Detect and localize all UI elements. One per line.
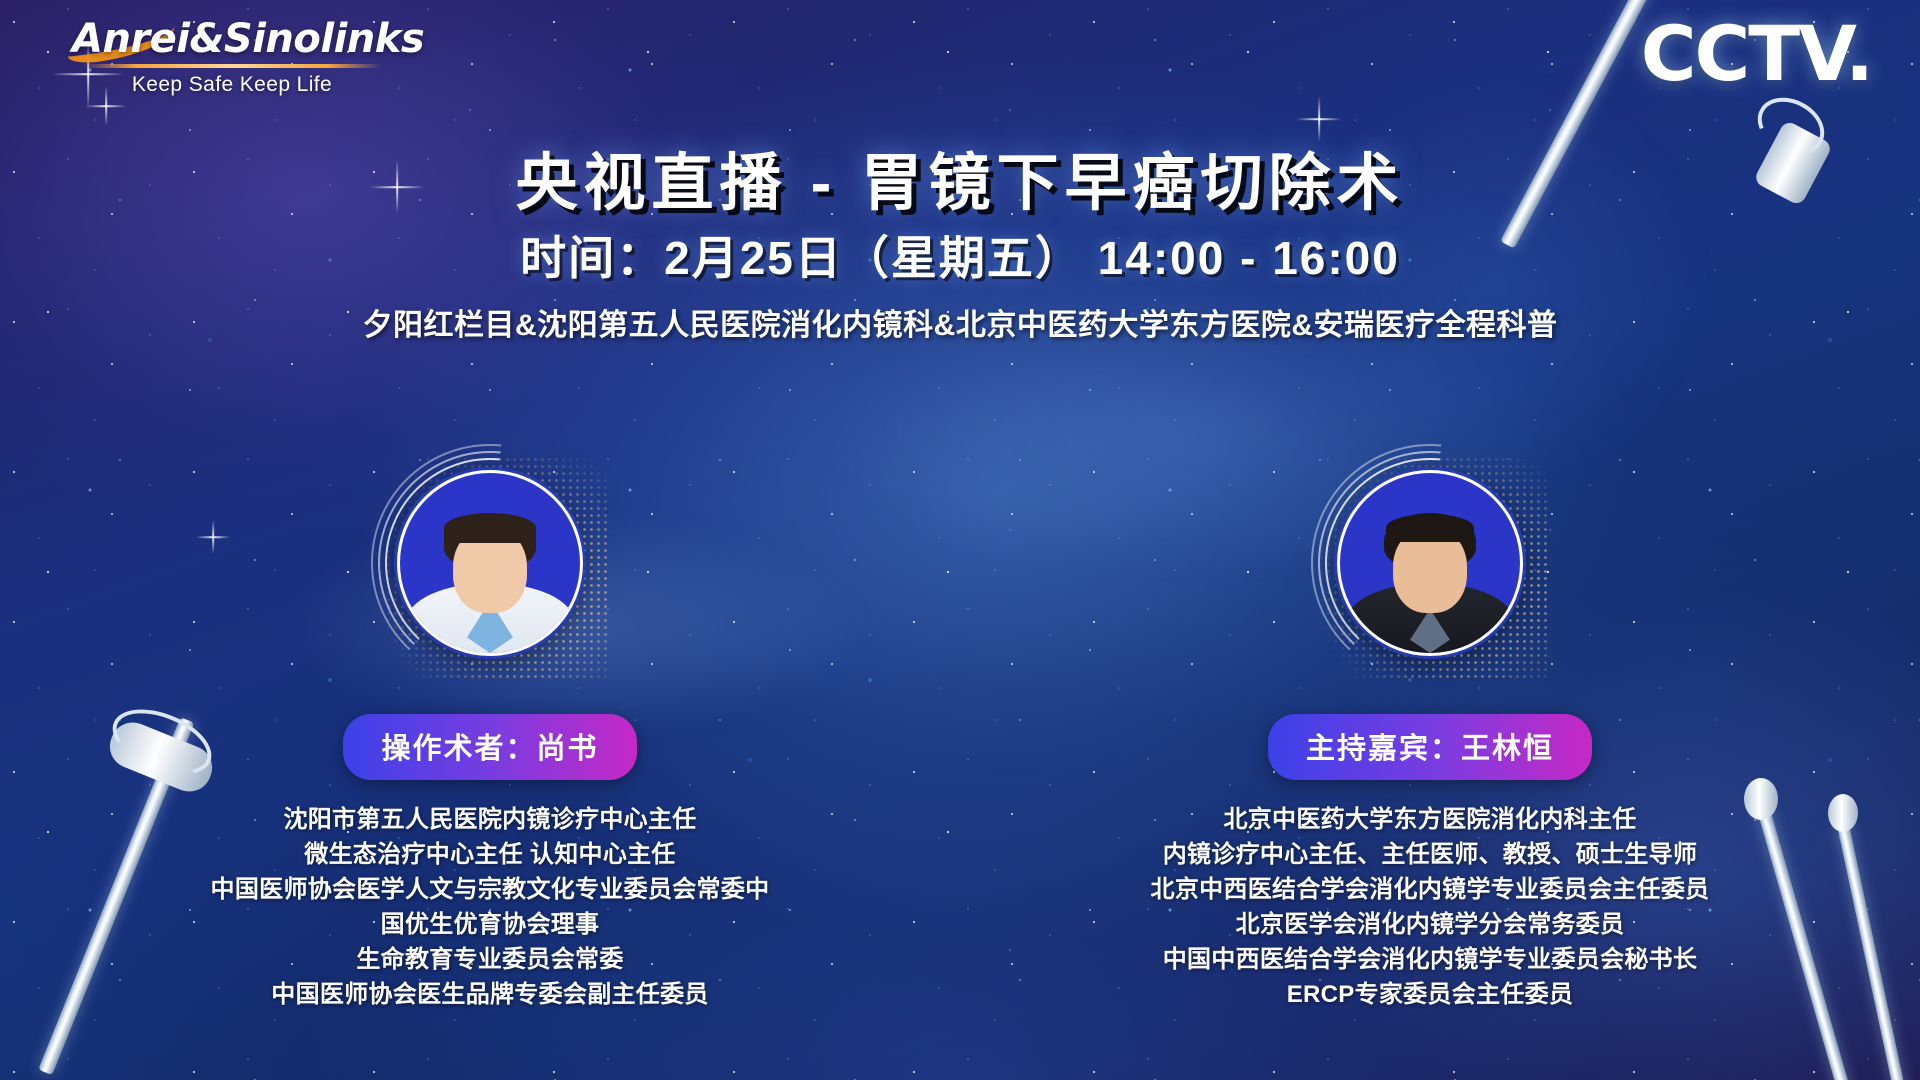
brand-divider bbox=[82, 64, 382, 68]
credential-item: 国优生优育协会理事 bbox=[110, 907, 870, 942]
avatar-image-host bbox=[1337, 470, 1523, 656]
credential-item: 微生态治疗中心主任 认知中心主任 bbox=[110, 837, 870, 872]
speaker-card-operator: 操作术者：尚书 沈阳市第五人民医院内镜诊疗中心主任 微生态治疗中心主任 认知中心… bbox=[110, 470, 870, 1012]
cctv-logo: CCTV. bbox=[1641, 16, 1872, 92]
credential-item: 沈阳市第五人民医院内镜诊疗中心主任 bbox=[110, 802, 870, 837]
credential-item: 北京中西医结合学会消化内镜学专业委员会主任委员 bbox=[1050, 872, 1810, 907]
avatar-hair-front bbox=[444, 513, 536, 543]
credential-item: 北京中医药大学东方医院消化内科主任 bbox=[1050, 802, 1810, 837]
speaker-card-host: 主持嘉宾：王林恒 北京中医药大学东方医院消化内科主任 内镜诊疗中心主任、主任医师… bbox=[1050, 470, 1810, 1012]
credential-item: 中国医师协会医学人文与宗教文化专业委员会常委中 bbox=[110, 872, 870, 907]
credential-item: ERCP专家委员会主任委员 bbox=[1050, 977, 1810, 1012]
avatar-image-operator bbox=[397, 470, 583, 656]
schedule-line: 时间：2月25日（星期五） 14:00 - 16:00 bbox=[0, 222, 1920, 288]
credentials-list-host: 北京中医药大学东方医院消化内科主任 内镜诊疗中心主任、主任医师、教授、硕士生导师… bbox=[1050, 802, 1810, 1012]
speaker-name-badge-host: 主持嘉宾：王林恒 bbox=[1268, 714, 1592, 780]
brand-tagline: Keep Safe Keep Life bbox=[72, 73, 392, 97]
avatar bbox=[1337, 470, 1523, 656]
speaker-name-badge-operator: 操作术者：尚书 bbox=[343, 714, 636, 780]
credential-item: 内镜诊疗中心主任、主任医师、教授、硕士生导师 bbox=[1050, 837, 1810, 872]
poster-canvas: Anrei&Sinolinks Keep Safe Keep Life CCTV… bbox=[0, 0, 1920, 1080]
credential-item: 中国医师协会医生品牌专委会副主任委员 bbox=[110, 977, 870, 1012]
brand-logo: Anrei&Sinolinks Keep Safe Keep Life bbox=[72, 18, 392, 97]
credential-item: 生命教育专业委员会常委 bbox=[110, 942, 870, 977]
avatar bbox=[397, 470, 583, 656]
page-title: 央视直播 - 胃镜下早癌切除术 bbox=[0, 132, 1920, 222]
credentials-list-operator: 沈阳市第五人民医院内镜诊疗中心主任 微生态治疗中心主任 认知中心主任 中国医师协… bbox=[110, 802, 870, 1012]
credential-item: 北京医学会消化内镜学分会常务委员 bbox=[1050, 907, 1810, 942]
credential-item: 中国中西医结合学会消化内镜学专业委员会秘书长 bbox=[1050, 942, 1810, 977]
avatar-hair-front bbox=[1386, 514, 1474, 542]
organizations-line: 夕阳红栏目&沈阳第五人民医院消化内镜科&北京中医药大学东方医院&安瑞医疗全程科普 bbox=[0, 300, 1920, 344]
brand-name: Anrei&Sinolinks bbox=[72, 18, 392, 60]
